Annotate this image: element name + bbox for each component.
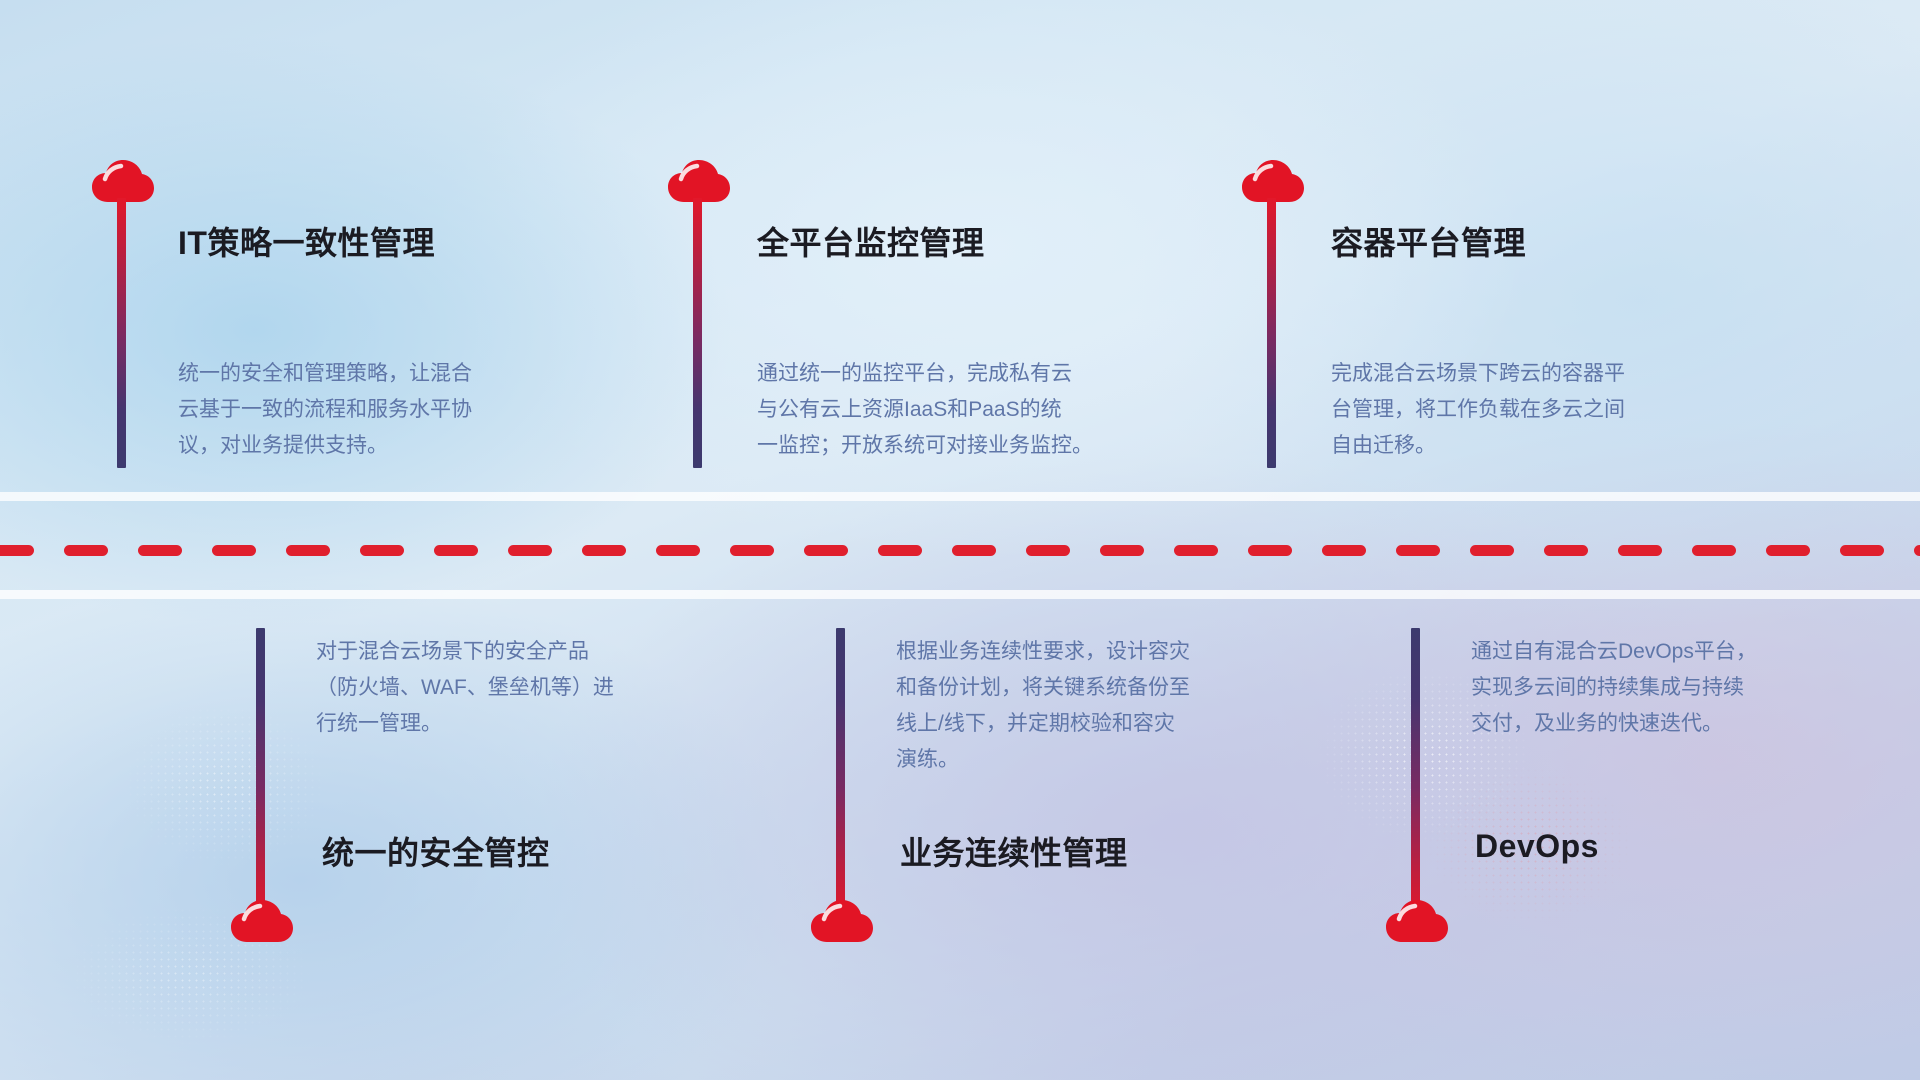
bottom-card-3-heading: DevOps bbox=[1475, 828, 1599, 865]
bottom-card-2-body: 根据业务连续性要求，设计容灾 和备份计划，将关键系统备份至 线上/线下，并定期校… bbox=[896, 634, 1336, 778]
divider-dash bbox=[1100, 545, 1144, 556]
divider-dash bbox=[1026, 545, 1070, 556]
divider-dash bbox=[286, 545, 330, 556]
divider-dash bbox=[878, 545, 922, 556]
bottom-card-1-heading: 统一的安全管控 bbox=[322, 828, 550, 874]
divider-dash bbox=[730, 545, 774, 556]
divider-rule-top bbox=[0, 492, 1920, 501]
infographic-canvas: IT策略一致性管理 统一的安全和管理策略，让混合 云基于一致的流程和服务水平协 … bbox=[0, 0, 1920, 1080]
bottom-card-3-body: 通过自有混合云DevOps平台， 实现多云间的持续集成与持续 交付，及业务的快速… bbox=[1471, 634, 1891, 742]
top-card-2-heading: 全平台监控管理 bbox=[757, 218, 985, 264]
bottom-card-2-heading: 业务连续性管理 bbox=[900, 828, 1128, 874]
divider-rule-bottom bbox=[0, 590, 1920, 599]
divider-dash bbox=[508, 545, 552, 556]
divider-dash bbox=[138, 545, 182, 556]
divider-dashed-line bbox=[0, 545, 1920, 556]
divider-dash bbox=[1322, 545, 1366, 556]
divider-dash bbox=[1396, 545, 1440, 556]
divider-dash bbox=[1618, 545, 1662, 556]
divider-dash bbox=[0, 545, 34, 556]
cloud-icon bbox=[231, 900, 293, 944]
divider-dash bbox=[1766, 545, 1810, 556]
timeline-stem bbox=[256, 628, 265, 918]
divider-dash bbox=[434, 545, 478, 556]
divider-dash bbox=[952, 545, 996, 556]
cloud-icon bbox=[811, 900, 873, 944]
divider-dash bbox=[804, 545, 848, 556]
divider-dash bbox=[1914, 545, 1920, 556]
top-card-3-heading: 容器平台管理 bbox=[1331, 218, 1526, 264]
divider-dash bbox=[64, 545, 108, 556]
divider-dash bbox=[1470, 545, 1514, 556]
top-card-2-body: 通过统一的监控平台，完成私有云 与公有云上资源IaaS和PaaS的统 一监控；开… bbox=[757, 356, 1207, 464]
divider-dash bbox=[1692, 545, 1736, 556]
divider-dash bbox=[1544, 545, 1588, 556]
bottom-card-1-body: 对于混合云场景下的安全产品 （防火墙、WAF、堡垒机等）进 行统一管理。 bbox=[316, 634, 746, 742]
top-card-1-body: 统一的安全和管理策略，让混合 云基于一致的流程和服务水平协 议，对业务提供支持。 bbox=[178, 356, 608, 464]
divider-dash bbox=[1248, 545, 1292, 556]
divider-dash bbox=[1840, 545, 1884, 556]
timeline-stem bbox=[117, 198, 126, 468]
cloud-icon bbox=[1386, 900, 1448, 944]
timeline-stem bbox=[693, 198, 702, 468]
divider-dash bbox=[1174, 545, 1218, 556]
divider-dash bbox=[360, 545, 404, 556]
divider-dash bbox=[582, 545, 626, 556]
top-card-1-heading: IT策略一致性管理 bbox=[178, 218, 435, 264]
dot-texture-left bbox=[120, 700, 330, 870]
timeline-stem bbox=[1267, 198, 1276, 468]
timeline-stem bbox=[1411, 628, 1420, 918]
divider-dash bbox=[212, 545, 256, 556]
top-card-3-body: 完成混合云场景下跨云的容器平 台管理，将工作负载在多云之间 自由迁移。 bbox=[1331, 356, 1771, 464]
divider-dash bbox=[656, 545, 700, 556]
timeline-stem bbox=[836, 628, 845, 918]
